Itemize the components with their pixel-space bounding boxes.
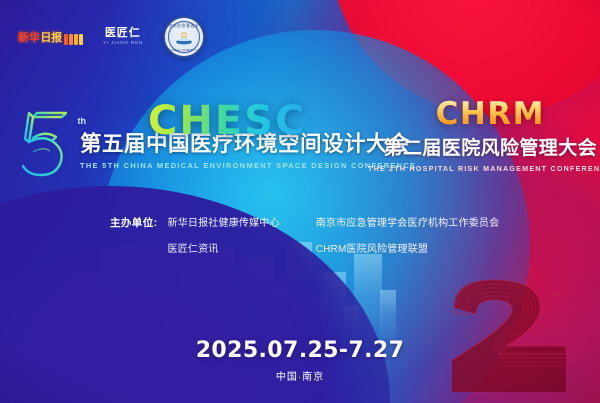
badge-bottom-text: MEDICAL COMMITTEE [165, 48, 203, 52]
event-location: 中国·南京 [0, 368, 600, 383]
organizer-item: 新华日报社健康传媒中心 [168, 214, 280, 229]
association-badge-logo[interactable]: 南京市应急管理学会 MEDICAL COMMITTEE [163, 16, 205, 58]
event-date: 2025.07.25-7.27 [0, 338, 600, 363]
edition-suffix: th [78, 116, 87, 126]
organizer-item: 南京市应急管理学会医疗机构工作委员会 [316, 214, 500, 229]
yijiangren-logo[interactable]: 医匠仁 YI JIANG REN [105, 28, 141, 45]
organizers-label: 主办单位: [110, 214, 158, 230]
conference-poster: nd 新华 日报 医匠仁 YI JIANG REN 南京市应急管理学会 [0, 0, 600, 403]
right-conference-cn-title: 第二届医院风险管理大会 [368, 133, 600, 160]
sponsor-logo-bar: 新华 日报 医匠仁 YI JIANG REN 南京市应急管理学会 MEDICAL… [18, 16, 205, 58]
organizer-item: 医匠仁资讯 [168, 240, 280, 255]
left-conference-en-title: THE 5TH CHINA MEDICAL ENVIRONMENT SPACE … [80, 161, 416, 170]
xinhua-logo-bars [64, 34, 83, 45]
badge-emblem-icon [174, 29, 194, 45]
badge-top-text: 南京市应急管理学会 [163, 22, 205, 28]
yijiangren-logo-cn: 医匠仁 [105, 28, 141, 39]
edition-numeral-5: th [16, 108, 74, 182]
organizers-column-one: 新华日报社健康传媒中心 医匠仁资讯 [168, 214, 280, 255]
right-conference-en-title: THE 2TH HOSPITAL RISK MANAGEMENT CONFERE… [368, 165, 600, 173]
organizers-column-two: 南京市应急管理学会医疗机构工作委员会 CHRM医院风险管理联盟 [316, 214, 500, 255]
xinhua-logo-glyph-right: 日报 [40, 29, 61, 45]
left-conference-block: th 第五届中国医疗环境空间设计大会 THE 5TH CHINA MEDICAL… [16, 104, 416, 182]
xinhua-logo-glyph-left: 新华 [18, 29, 39, 45]
xinhua-daily-logo[interactable]: 新华 日报 [18, 29, 83, 45]
right-conference-block: CHRM 第二届医院风险管理大会 THE 2TH HOSPITAL RISK M… [368, 98, 600, 173]
yijiangren-logo-en: YI JIANG REN [103, 42, 143, 46]
chesc-acronym: CHESC [148, 98, 306, 144]
organizers-section: 主办单位: 新华日报社健康传媒中心 医匠仁资讯 南京市应急管理学会医疗机构工作委… [110, 214, 499, 255]
chrm-acronym: CHRM [368, 98, 600, 131]
organizer-item: CHRM医院风险管理联盟 [316, 240, 500, 255]
event-date-section: 2025.07.25-7.27 中国·南京 [0, 338, 600, 383]
